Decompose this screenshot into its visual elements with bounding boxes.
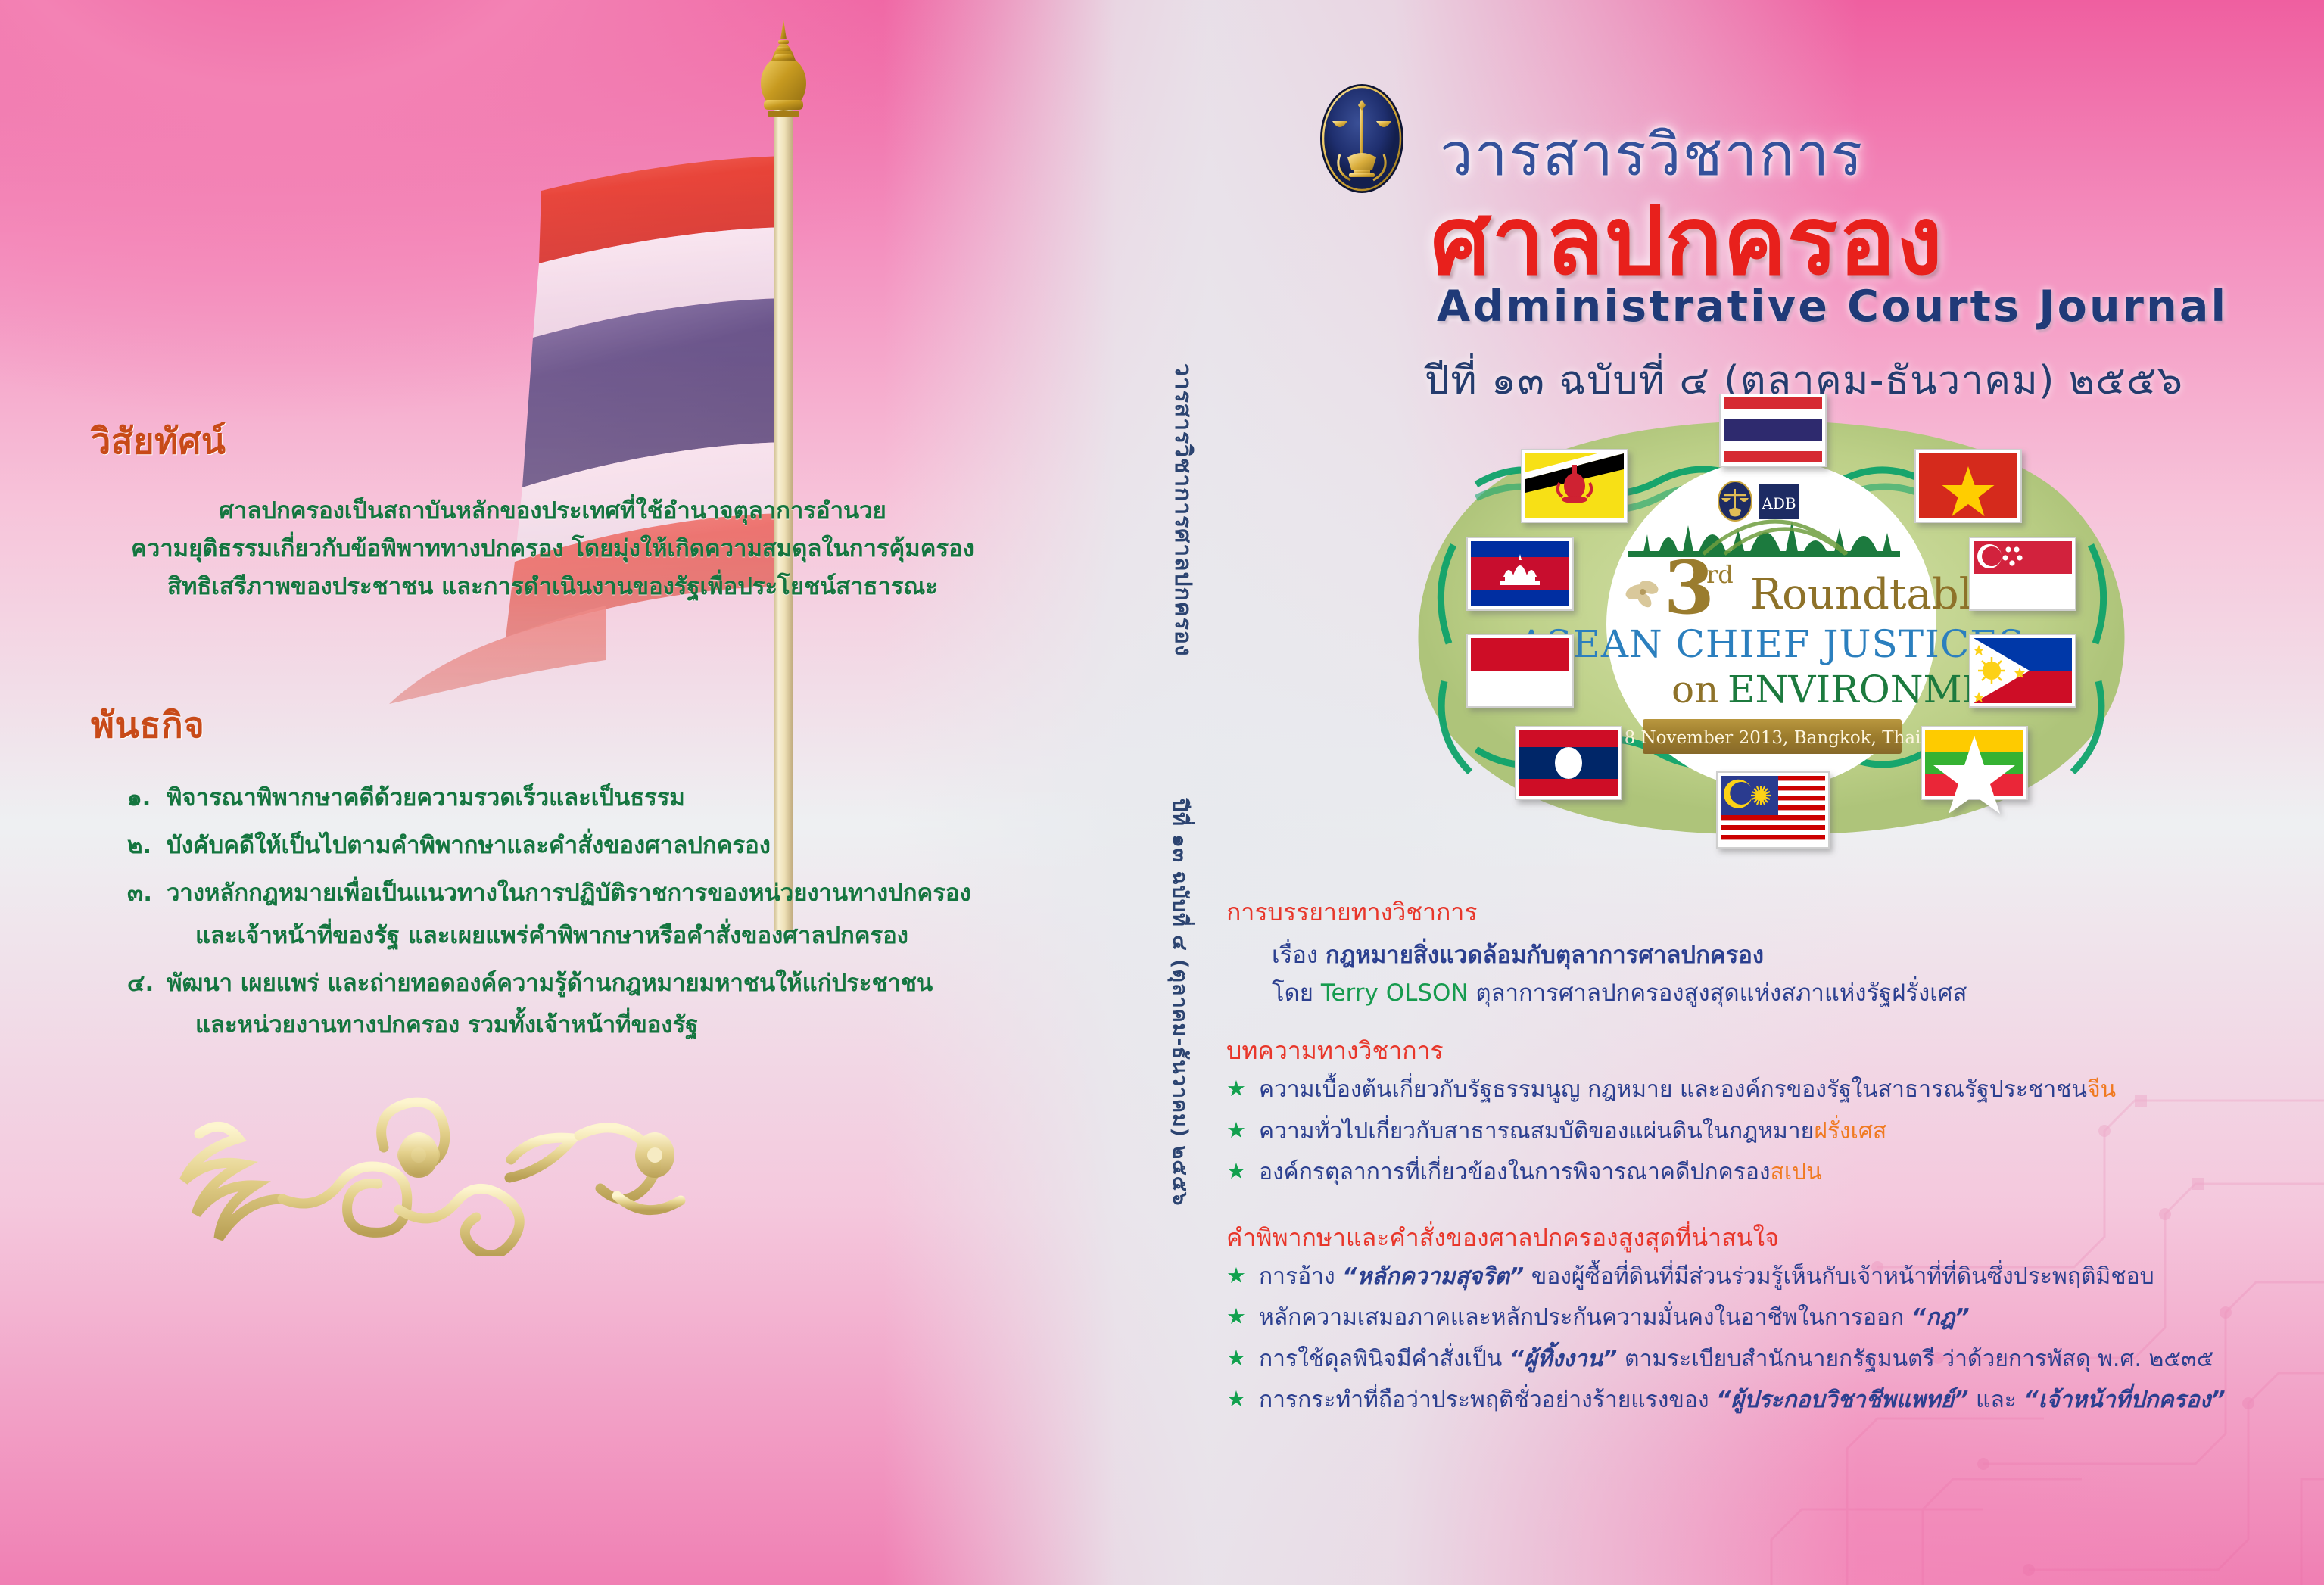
- flag-brunei: [1522, 450, 1628, 522]
- mission-item: ๓. วางหลักกฎหมายเพื่อเป็นแนวทางในการปฏิบ…: [127, 873, 1030, 956]
- judgment-post: และ: [1969, 1387, 2024, 1413]
- lecture-author-name: Terry OLSON: [1321, 979, 1469, 1007]
- spine-title: วารสารวิชาการศาลปกครอง: [1165, 363, 1201, 657]
- flag-singapore: [1970, 537, 2076, 610]
- judgment-quoted: “ผู้ประกอบวิชาชีพแพทย์”: [1716, 1387, 1968, 1413]
- front-cover: วารสารวิชาการ ศาลปกครอง Administrative C…: [1226, 0, 2324, 1585]
- emblem-date-place: 15-18 November 2013, Bangkok, Thailand: [1585, 728, 1959, 748]
- judgment-post: ตามระเบียบสำนักนายกรัฐมนตรี ว่าด้วยการพั…: [1618, 1346, 2214, 1372]
- ordinal-suffix: rd: [1706, 560, 1734, 589]
- star-icon: ★: [1226, 1075, 1246, 1102]
- mission-text-line1: วางหลักกฎหมายเพื่อเป็นแนวทางในการปฏิบัติ…: [167, 880, 971, 907]
- emblem-line2: ASEAN CHIEF JUSTICES: [1517, 622, 2025, 666]
- mission-text: วางหลักกฎหมายเพื่อเป็นแนวทางในการปฏิบัติ…: [167, 873, 971, 956]
- lecture-author-role: ตุลาการศาลปกครองสูงสุดแห่งสภาแห่งรัฐฝรั่…: [1469, 979, 1967, 1007]
- section-heading-articles: บทความทางวิชาการ: [1226, 1032, 2324, 1070]
- flag-laos: [1516, 727, 1622, 799]
- vision-line: ศาลปกครองเป็นสถาบันหลักของประเทศที่ใช้อำ…: [91, 492, 1014, 530]
- judgment-pre: การอ้าง: [1259, 1263, 1342, 1290]
- judgment-text: การอ้าง “หลักความสุจริต” ของผู้ซื้อที่ดิ…: [1259, 1262, 2154, 1293]
- judgment-text: การใช้ดุลพินิจมีคำสั่งเป็น “ผู้ทิ้งงาน” …: [1259, 1344, 2213, 1375]
- mission-block: พันธกิจ ๑. พิจารณาพิพากษาคดีด้วยความรวดเ…: [91, 696, 1030, 1052]
- judgment-item: ★ การอ้าง “หลักความสุจริต” ของผู้ซื้อที่…: [1226, 1262, 2324, 1293]
- lecture-author: โดย Terry OLSON ตุลาการศาลปกครองสูงสุดแห…: [1272, 974, 2324, 1012]
- article-text: องค์กรตุลาการที่เกี่ยวข้องในการพิจารณาคด…: [1259, 1157, 1822, 1188]
- contents-list: การบรรยายทางวิชาการ เรื่อง กฎหมายสิ่งแวด…: [1226, 893, 2324, 1427]
- mission-number: ๔.: [127, 963, 167, 1046]
- mission-text-line2: และหน่วยงานทางปกครอง รวมทั้งเจ้าหน้าที่ข…: [195, 1004, 933, 1046]
- vision-line: ความยุติธรรมเกี่ยวกับข้อพิพาททางปกครอง โ…: [91, 530, 1014, 568]
- vision-line: สิทธิเสรีภาพของประชาชน และการดำเนินงานขอ…: [91, 568, 1014, 606]
- mission-list: ๑. พิจารณาพิพากษาคดีด้วยความรวดเร็วและเป…: [91, 777, 1030, 1046]
- article-text-main: ความเบื้องต้นเกี่ยวกับรัฐธรรมนูญ กฎหมาย …: [1259, 1076, 2087, 1103]
- lecture-by-label: โดย: [1272, 979, 1321, 1007]
- flag-indonesia: [1467, 634, 1573, 707]
- star-icon: ★: [1226, 1262, 1246, 1289]
- mission-text-line2: และเจ้าหน้าที่ของรัฐ และเผยแพร่คำพิพากษา…: [195, 915, 971, 957]
- mission-number: ๓.: [127, 873, 167, 956]
- vision-body: ศาลปกครองเป็นสถาบันหลักของประเทศที่ใช้อำ…: [91, 492, 1014, 606]
- article-text-highlight: สเปน: [1771, 1159, 1822, 1185]
- lecture-topic-title: กฎหมายสิ่งแวดล้อมกับตุลาการศาลปกครอง: [1326, 942, 1764, 969]
- judgment-pre: หลักความเสมอภาคและหลักประกันความมั่นคงใน…: [1259, 1304, 1911, 1331]
- mission-text: บังคับคดีให้เป็นไปตามคำพิพากษาและคำสั่งข…: [167, 825, 771, 867]
- star-icon: ★: [1226, 1157, 1246, 1185]
- star-icon: ★: [1226, 1385, 1246, 1412]
- judgment-text: การกระทำที่ถือว่าประพฤติชั่วอย่างร้ายแรง…: [1259, 1385, 2226, 1416]
- flag-malaysia: [1717, 772, 1829, 848]
- lecture-topic: เรื่อง กฎหมายสิ่งแวดล้อมกับตุลาการศาลปกค…: [1272, 936, 2324, 974]
- star-icon: ★: [1226, 1303, 1246, 1330]
- journal-title-english: Administrative Courts Journal: [1437, 282, 2228, 332]
- scales-of-justice-seal: [1317, 82, 1407, 195]
- mission-item: ๑. พิจารณาพิพากษาคดีด้วยความรวดเร็วและเป…: [127, 777, 1030, 819]
- article-text-main: องค์กรตุลาการที่เกี่ยวข้องในการพิจารณาคด…: [1259, 1159, 1771, 1185]
- flag-thailand: [1720, 394, 1826, 466]
- mission-item: ๔. พัฒนา เผยแพร่ และถ่ายทอดองค์ความรู้ด้…: [127, 963, 1030, 1046]
- vision-heading: วิสัยทัศน์: [91, 413, 1014, 469]
- mission-number: ๒.: [127, 825, 167, 867]
- spacer: [1226, 1199, 2324, 1219]
- judgment-item: ★ การกระทำที่ถือว่าประพฤติชั่วอย่างร้ายแ…: [1226, 1385, 2324, 1416]
- star-icon: ★: [1226, 1116, 1246, 1144]
- judgment-text: หลักความเสมอภาคและหลักประกันความมั่นคงใน…: [1259, 1303, 1970, 1334]
- vision-block: วิสัยทัศน์ ศาลปกครองเป็นสถาบันหลักของประ…: [91, 413, 1014, 606]
- article-text-highlight: จีน: [2087, 1076, 2116, 1103]
- article-text-highlight: ฝรั่งเศส: [1814, 1118, 1886, 1144]
- judgment-quoted: “กฎ”: [1911, 1304, 1970, 1331]
- mission-text-line1: พัฒนา เผยแพร่ และถ่ายทอดองค์ความรู้ด้านก…: [167, 970, 933, 997]
- mission-text: พัฒนา เผยแพร่ และถ่ายทอดองค์ความรู้ด้านก…: [167, 963, 933, 1046]
- back-cover: วิสัยทัศน์ ศาลปกครองเป็นสถาบันหลักของประ…: [0, 0, 1166, 1585]
- mission-text: พิจารณาพิพากษาคดีด้วยความรวดเร็วและเป็นธ…: [167, 777, 685, 819]
- judgment-item: ★ หลักความเสมอภาคและหลักประกันความมั่นคง…: [1226, 1303, 2324, 1334]
- spine: วารสารวิชาการศาลปกครอง ปีที่ ๑๓ ฉบับที่ …: [1139, 0, 1223, 1585]
- lecture-topic-label: เรื่อง: [1272, 942, 1326, 969]
- spacer: [1226, 1012, 2324, 1032]
- flag-vietnam: [1915, 450, 2021, 522]
- judgment-pre: การใช้ดุลพินิจมีคำสั่งเป็น: [1259, 1346, 1509, 1372]
- gold-filigree-ornament: [132, 1082, 708, 1256]
- article-item: ★ องค์กรตุลาการที่เกี่ยวข้องในการพิจารณา…: [1226, 1157, 2324, 1188]
- judgment-pre: การกระทำที่ถือว่าประพฤติชั่วอย่างร้ายแรง…: [1259, 1387, 1716, 1413]
- asean-roundtable-emblem: ADB 3 rd: [1249, 394, 2294, 863]
- adb-logo-text: ADB: [1761, 494, 1796, 512]
- mission-item: ๒. บังคับคดีให้เป็นไปตามคำพิพากษาและคำสั…: [127, 825, 1030, 867]
- article-text-main: ความทั่วไปเกี่ยวกับสาธารณสมบัติของแผ่นดิ…: [1259, 1118, 1814, 1144]
- star-icon: ★: [1226, 1344, 1246, 1372]
- section-heading-lecture: การบรรยายทางวิชาการ: [1226, 893, 2324, 932]
- article-text: ความเบื้องต้นเกี่ยวกับรัฐธรรมนูญ กฎหมาย …: [1259, 1075, 2116, 1106]
- article-item: ★ ความทั่วไปเกี่ยวกับสาธารณสมบัติของแผ่น…: [1226, 1116, 2324, 1147]
- flag-cambodia: [1467, 537, 1573, 610]
- judgment-post: ของผู้ซื้อที่ดินที่มีส่วนร่วมรู้เห็นกับเ…: [1524, 1263, 2154, 1290]
- mission-number: ๑.: [127, 777, 167, 819]
- judgment-item: ★ การใช้ดุลพินิจมีคำสั่งเป็น “ผู้ทิ้งงาน…: [1226, 1344, 2324, 1375]
- judgment-quoted: “หลักความสุจริต”: [1342, 1263, 1524, 1290]
- spine-issue: ปีที่ ๑๓ ฉบับที่ ๔ (ตุลาคม-ธันวาคม) ๒๕๕๖: [1164, 799, 1196, 1206]
- judgment-quoted2: “เจ้าหน้าที่ปกครอง”: [2023, 1387, 2225, 1413]
- flag-philippines: [1970, 634, 2076, 707]
- section-heading-judgments: คำพิพากษาและคำสั่งของศาลปกครองสูงสุดที่น…: [1226, 1219, 2324, 1257]
- judgment-quoted: “ผู้ทิ้งงาน”: [1509, 1346, 1618, 1372]
- emblem-line3-prefix: on: [1671, 668, 1718, 712]
- article-item: ★ ความเบื้องต้นเกี่ยวกับรัฐธรรมนูญ กฎหมา…: [1226, 1075, 2324, 1106]
- mission-heading: พันธกิจ: [91, 696, 1030, 753]
- magazine-cover-spread: วิสัยทัศน์ ศาลปกครองเป็นสถาบันหลักของประ…: [0, 0, 2324, 1585]
- article-text: ความทั่วไปเกี่ยวกับสาธารณสมบัติของแผ่นดิ…: [1259, 1116, 1886, 1147]
